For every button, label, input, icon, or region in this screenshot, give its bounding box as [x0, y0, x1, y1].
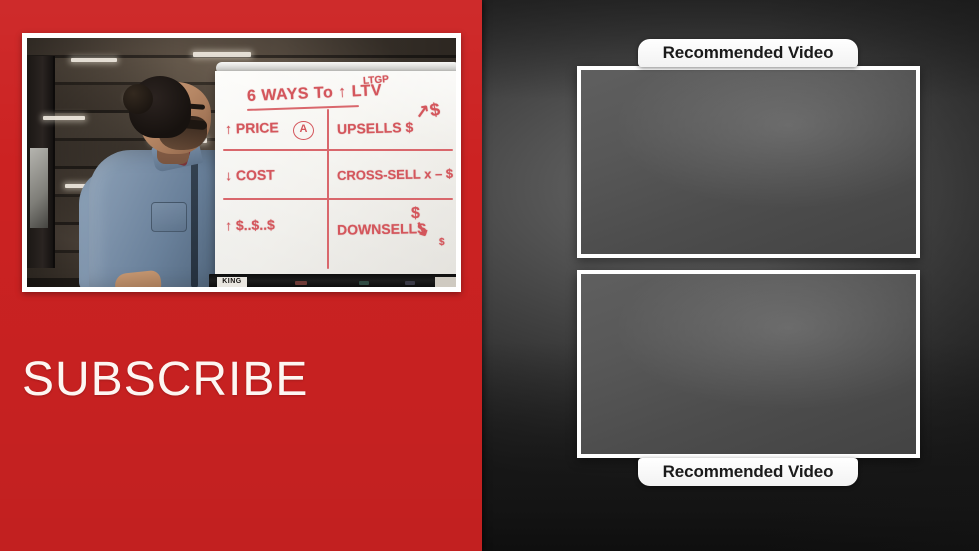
- row-divider: [223, 149, 453, 151]
- column-divider: [327, 109, 329, 269]
- whiteboard-badge: A: [293, 121, 314, 140]
- whiteboard: 6 WAYS To ↑ LTV LTGP ↑ PRICE A UPSELLS $…: [215, 71, 456, 277]
- shirt-placket: [191, 152, 198, 287]
- whiteboard-cell: ↑ PRICE: [225, 119, 279, 136]
- downsell-small-dollar: $: [439, 237, 445, 248]
- recommended-video-slot-bottom[interactable]: [577, 270, 920, 458]
- tray-marker: [405, 281, 415, 285]
- wall-glass-panel: [30, 148, 48, 228]
- whiteboard-cell: ↓ COST: [225, 167, 275, 184]
- whiteboard-cell: ↑ $..$..$: [225, 217, 275, 234]
- title-underline: [247, 105, 359, 110]
- recommended-video-label-bottom[interactable]: Recommended Video: [638, 458, 858, 486]
- wall-door-frame: [27, 56, 55, 268]
- end-screen-card: 6 WAYS To ↑ LTV LTGP ↑ PRICE A UPSELLS $…: [0, 0, 979, 551]
- tray-marker: [295, 281, 307, 285]
- frame-sheen: [581, 70, 916, 254]
- channel-video-thumbnail[interactable]: 6 WAYS To ↑ LTV LTGP ↑ PRICE A UPSELLS $…: [22, 33, 461, 292]
- whiteboard-cell: UPSELLS $: [337, 119, 414, 137]
- light-strip: [71, 58, 117, 62]
- recommended-video-slot-top[interactable]: [577, 66, 920, 258]
- shirt-pocket: [151, 202, 187, 232]
- tray-brand-label: KING: [217, 277, 247, 287]
- frame-sheen: [581, 274, 916, 454]
- whiteboard-title-superscript: LTGP: [363, 74, 390, 87]
- upsell-arrow-dollar: ↗$: [413, 99, 441, 124]
- tray-right-label: [435, 277, 456, 287]
- light-strip: [193, 52, 251, 57]
- whiteboard-tray: KING: [209, 274, 456, 287]
- subscribe-label[interactable]: SUBSCRIBE: [22, 352, 308, 407]
- tray-marker: [359, 281, 369, 285]
- whiteboard-cell: CROSS-SELL x – $: [337, 166, 453, 183]
- whiteboard-title: 6 WAYS To ↑ LTV: [247, 82, 383, 106]
- thumbnail-image: 6 WAYS To ↑ LTV LTGP ↑ PRICE A UPSELLS $…: [27, 38, 456, 287]
- presenter-hair-bun: [123, 84, 153, 114]
- recommended-video-label-top[interactable]: Recommended Video: [638, 39, 858, 67]
- row-divider: [223, 198, 453, 200]
